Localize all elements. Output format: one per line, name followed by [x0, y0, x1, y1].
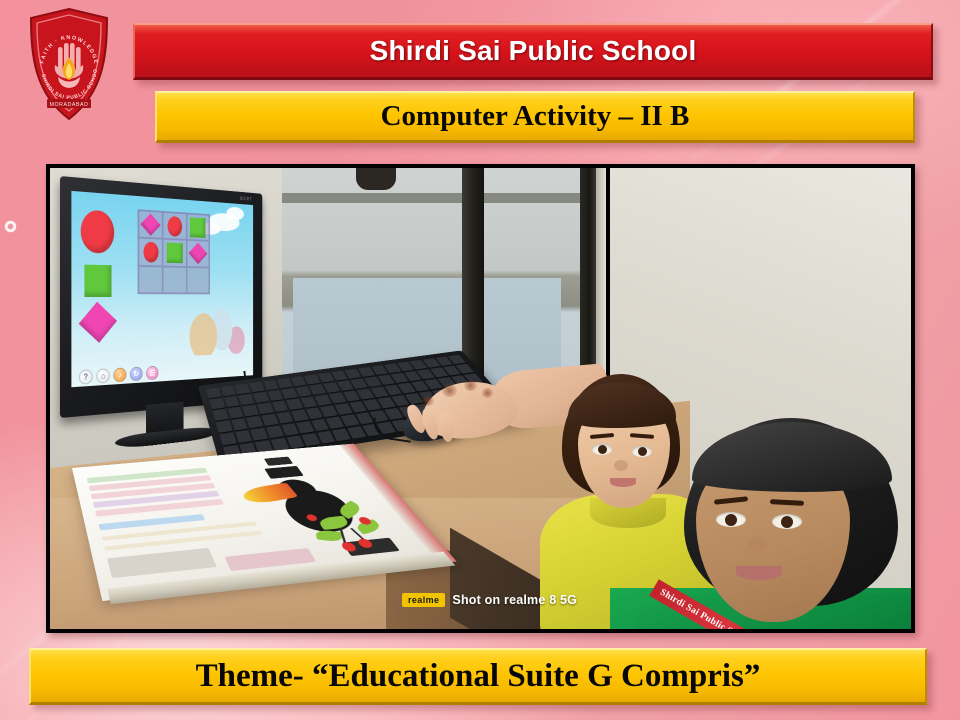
eye — [716, 512, 746, 527]
help-icon[interactable]: ? — [79, 369, 93, 385]
grid-cell[interactable] — [138, 210, 162, 239]
realme-badge: realme — [402, 593, 445, 607]
henna-pattern — [482, 388, 493, 398]
theme-banner: Theme- “Educational Suite G Compris” — [29, 648, 927, 705]
nose — [748, 536, 768, 552]
grid-cell[interactable] — [138, 266, 162, 294]
slide-canvas: FAITH · KNOWLEDGE · DUTY SHIRDI SAI PUBL… — [0, 0, 960, 720]
door-fixture — [356, 168, 396, 190]
door-transom — [282, 193, 582, 203]
activity-title-text: Computer Activity – II B — [381, 100, 690, 133]
activity-photo: acer — [46, 164, 915, 633]
school-name-banner: Shirdi Sai Public School — [133, 23, 933, 80]
sound-icon[interactable]: ♪ — [113, 367, 126, 382]
game-shape-square[interactable] — [84, 265, 111, 297]
camera-watermark: realme Shot on realme 8 5G — [402, 593, 577, 607]
henna-pattern — [422, 396, 434, 406]
activity-title-banner: Computer Activity – II B — [155, 91, 915, 143]
gcompris-toolbar[interactable]: ? ⌂ ♪ ↻ ☰ — [79, 366, 159, 385]
home-icon[interactable]: ⌂ — [96, 368, 109, 383]
grid-shape-square — [167, 243, 183, 264]
grid-shape-diamond — [189, 243, 208, 265]
svg-text:MORADABAD: MORADABAD — [50, 102, 89, 108]
game-shape-diamond[interactable] — [79, 302, 117, 343]
school-logo: FAITH · KNOWLEDGE · DUTY SHIRDI SAI PUBL… — [25, 7, 113, 125]
monitor-screen: ? ⌂ ♪ ↻ ☰ — [71, 191, 253, 387]
grid-cell[interactable] — [163, 266, 187, 293]
hair-top — [692, 422, 892, 492]
grid-cell[interactable] — [186, 213, 209, 241]
grid-shape-diamond — [141, 214, 161, 236]
school-name-text: Shirdi Sai Public School — [370, 35, 697, 67]
grid-shape-square — [190, 217, 205, 238]
grid-cell[interactable] — [186, 240, 209, 267]
game-shape-ellipse[interactable] — [81, 209, 114, 253]
mouth — [610, 478, 636, 487]
reload-icon[interactable]: ↻ — [130, 367, 143, 382]
game-shape-grid[interactable] — [138, 209, 210, 294]
decorative-ring — [4, 220, 17, 233]
grid-shape-ellipse — [168, 216, 182, 237]
eye — [772, 514, 802, 529]
watermark-text: Shot on realme 8 5G — [452, 593, 577, 607]
grid-cell[interactable] — [163, 239, 187, 267]
monitor-brand-label: acer — [240, 195, 253, 202]
henna-pattern — [442, 384, 457, 397]
eye — [632, 446, 652, 457]
grid-cell[interactable] — [163, 212, 187, 240]
cloud-graphic — [226, 206, 243, 220]
menu-icon[interactable]: ☰ — [146, 366, 158, 381]
photo-content: acer — [50, 168, 911, 629]
henna-pattern — [464, 380, 477, 391]
mouth — [736, 566, 782, 580]
eye — [592, 444, 612, 455]
theme-text: Theme- “Educational Suite G Compris” — [196, 658, 761, 695]
grid-cell[interactable] — [186, 267, 209, 294]
grid-cell[interactable] — [138, 238, 162, 266]
student-green-uniform — [662, 426, 911, 629]
nose — [614, 460, 628, 471]
game-mascot-graphic — [183, 292, 249, 356]
grid-shape-ellipse — [143, 242, 158, 263]
